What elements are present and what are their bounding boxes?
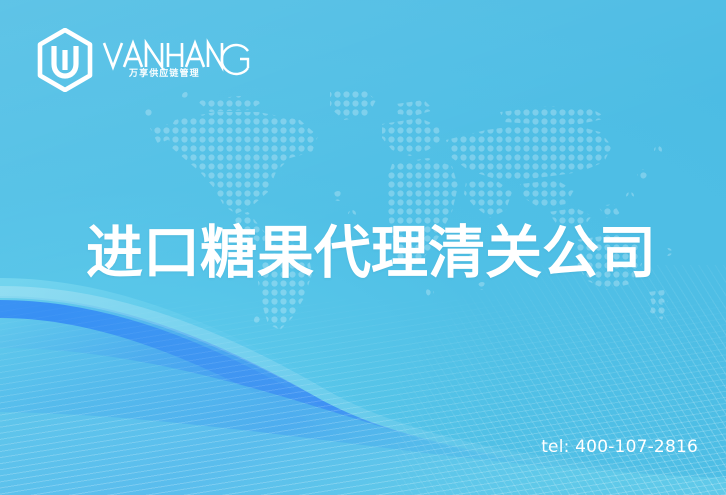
contact-phone: tel: 400-107-2816 [541, 437, 698, 457]
vanhang-hexagon-icon [34, 28, 96, 92]
brand-logo: 万享供应链管理 [34, 28, 252, 92]
promotional-banner: 万享供应链管理 进口糖果代理清关公司 tel: 400-107-2816 [0, 0, 726, 495]
page-title: 进口糖果代理清关公司 [86, 216, 656, 290]
logo-subtitle: 万享供应链管理 [129, 66, 200, 79]
logo-text-block: 万享供应链管理 [102, 35, 252, 85]
